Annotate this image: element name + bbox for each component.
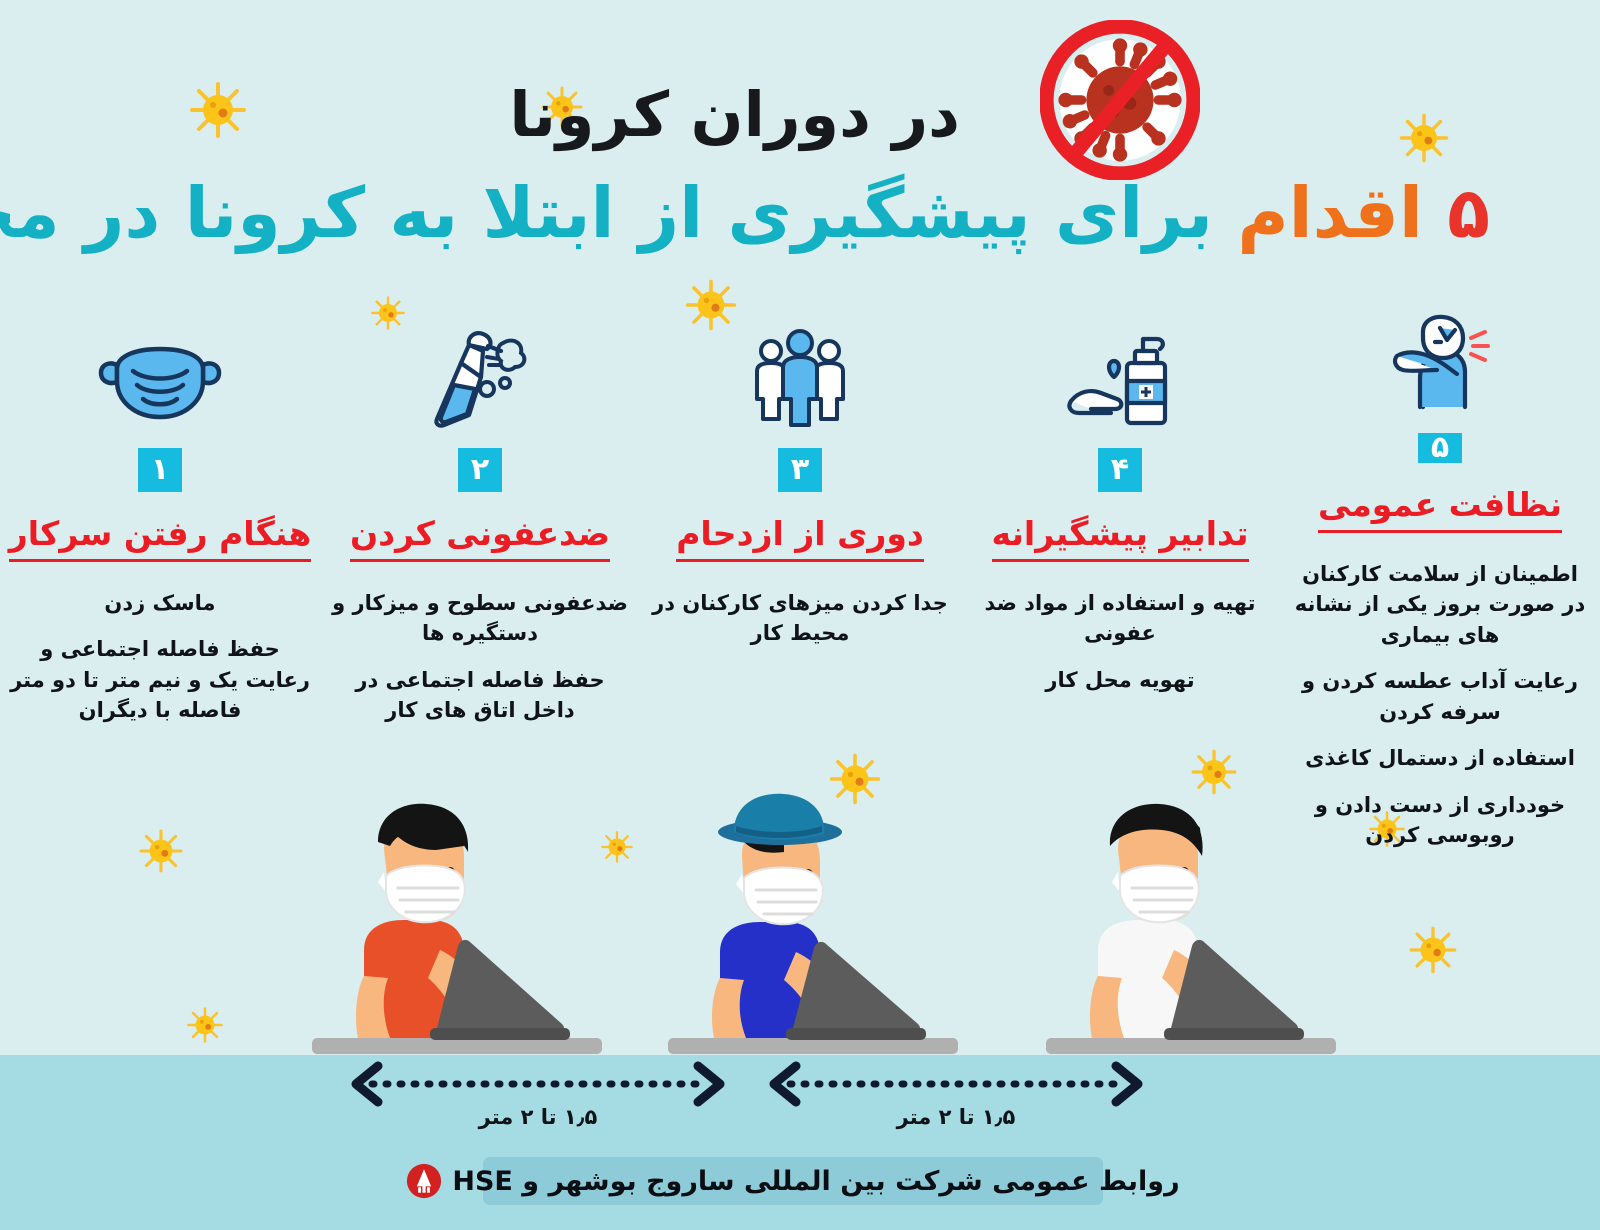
step-body-line: تهیه و استفاده از مواد ضد عفونی <box>970 588 1270 649</box>
worker-white-shirt <box>1046 780 1336 1070</box>
step-column-2: ۲ ضدعفونی کردن ضدعفونی سطوح و میزکار و د… <box>320 300 640 770</box>
step-badge: ۴ <box>1098 448 1142 492</box>
step-body: ماسک زدن حفظ فاصله اجتماعی و رعایت یک و … <box>10 588 310 742</box>
distance-marker-left: ۱٫۵ تا ۲ متر <box>348 1060 728 1150</box>
step-column-1: ۱ هنگام رفتن سرکار ماسک زدن حفظ فاصله اج… <box>0 300 320 770</box>
step-title: ضدعفونی کردن <box>350 514 610 562</box>
title-keyword: اقدام <box>1237 172 1423 254</box>
step-column-4: ۴ تدابیر پیشگیرانه تهیه و استفاده از موا… <box>960 300 1280 770</box>
step-body-line: جدا کردن میزهای کارکنان در محیط کار <box>650 588 950 649</box>
spray-bottle-icon <box>425 312 535 432</box>
page-title: ۵ اقدام برای پیشگیری از ابتلا به کرونا د… <box>110 175 1490 252</box>
hand-sanitizer-icon <box>1065 312 1175 432</box>
footer-bar: روابط عمومی شرکت بین المللی ساروج بوشهر … <box>483 1157 1103 1205</box>
step-badge: ۱ <box>138 448 182 492</box>
infographic-canvas: در دوران کرونا ۵ اقدام برای پیشگیری از ا… <box>0 0 1600 1230</box>
step-body: تهیه و استفاده از مواد ضد عفونی تهویه مح… <box>970 588 1270 711</box>
hse-company-logo <box>406 1163 442 1199</box>
distance-label: ۱٫۵ تا ۲ متر <box>766 1105 1146 1129</box>
no-coronavirus-icon <box>1040 20 1200 180</box>
worker-blue-shirt <box>668 780 958 1070</box>
step-body-line: حفظ فاصله اجتماعی در داخل اتاق های کار <box>330 665 630 726</box>
distance-marker-right: ۱٫۵ تا ۲ متر <box>766 1060 1146 1150</box>
step-body-line: تهویه محل کار <box>970 665 1270 695</box>
footer-text: روابط عمومی شرکت بین المللی ساروج بوشهر … <box>452 1166 1179 1197</box>
step-body-line: رعایت آداب عطسه کردن و سرفه کردن <box>1290 666 1590 727</box>
step-body-line: ضدعفونی سطوح و میزکار و دستگیره ها <box>330 588 630 649</box>
step-title: نظافت عمومی <box>1318 485 1562 533</box>
step-column-5: ۵ نظافت عمومی اطمینان از سلامت کارکنان د… <box>1280 300 1600 770</box>
step-body: جدا کردن میزهای کارکنان در محیط کار <box>650 588 950 665</box>
step-badge: ۳ <box>778 448 822 492</box>
header: در دوران کرونا ۵ اقدام برای پیشگیری از ا… <box>0 0 1600 300</box>
step-title: تدابیر پیشگیرانه <box>992 514 1249 562</box>
step-title: دوری از ازدحام <box>676 514 924 562</box>
step-body-line: اطمینان از سلامت کارکنان در صورت بروز یک… <box>1290 559 1590 650</box>
header-subtitle: در دوران کرونا <box>509 78 960 151</box>
distance-label: ۱٫۵ تا ۲ متر <box>348 1105 728 1129</box>
group-of-people-icon <box>745 312 855 432</box>
step-badge: ۲ <box>458 448 502 492</box>
title-number: ۵ <box>1447 172 1490 254</box>
workers-scene <box>0 770 1600 1070</box>
step-badge: ۵ <box>1418 433 1462 463</box>
face-mask-icon <box>95 312 225 432</box>
prevention-steps-row: ۵ نظافت عمومی اطمینان از سلامت کارکنان د… <box>0 300 1600 770</box>
title-rest: برای پیشگیری از ابتلا به کرونا در محیط ک… <box>0 172 1213 254</box>
step-title: هنگام رفتن سرکار <box>9 514 311 562</box>
step-body-line: حفظ فاصله اجتماعی و رعایت یک و نیم متر ت… <box>10 634 310 725</box>
step-column-3: ۳ دوری از ازدحام جدا کردن میزهای کارکنان… <box>640 300 960 770</box>
worker-orange-shirt <box>312 780 602 1070</box>
step-body-line: ماسک زدن <box>10 588 310 618</box>
step-body: ضدعفونی سطوح و میزکار و دستگیره ها حفظ ف… <box>330 588 630 742</box>
sneeze-into-elbow-icon <box>1385 312 1495 417</box>
